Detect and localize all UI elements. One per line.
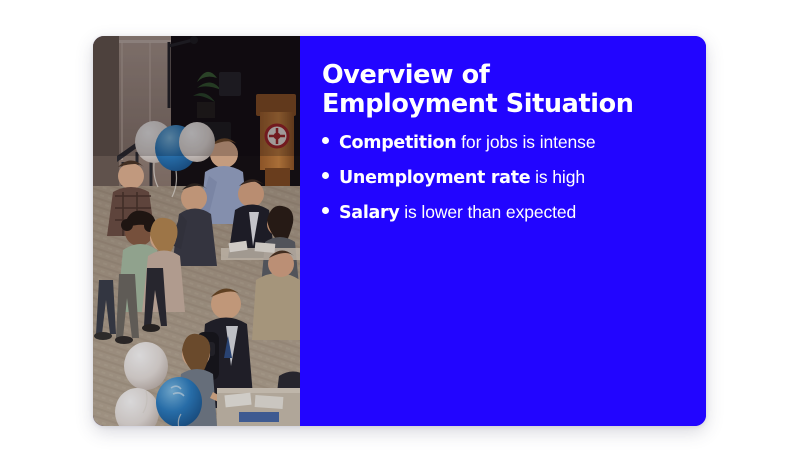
bullet-emphasis: Competition — [339, 133, 456, 153]
bullet-text: Unemployment rate is high — [339, 167, 585, 190]
bullet-rest: is lower than expected — [399, 202, 576, 222]
career-fair-photo-illustration — [93, 36, 300, 426]
bullet-text: Salary is lower than expected — [339, 202, 576, 225]
bullet-emphasis: Salary — [339, 203, 399, 223]
bullet-rest: is high — [530, 167, 585, 187]
bullet-emphasis: Unemployment rate — [339, 168, 530, 188]
bullet-text: Competition for jobs is intense — [339, 132, 595, 155]
slide-content-panel: Overview of Employment Situation Competi… — [300, 36, 706, 426]
bullet-dot-icon — [322, 172, 329, 179]
career-fair-photo — [93, 36, 300, 426]
bullet-dot-icon — [322, 137, 329, 144]
list-item: Competition for jobs is intense — [322, 132, 706, 155]
slide-card: Overview of Employment Situation Competi… — [93, 36, 706, 426]
bullet-dot-icon — [322, 207, 329, 214]
list-item: Unemployment rate is high — [322, 167, 706, 190]
bullet-list: Competition for jobs is intense Unemploy… — [322, 132, 706, 225]
list-item: Salary is lower than expected — [322, 202, 706, 225]
page-title: Overview of Employment Situation — [322, 61, 706, 118]
bullet-rest: for jobs is intense — [456, 132, 595, 152]
